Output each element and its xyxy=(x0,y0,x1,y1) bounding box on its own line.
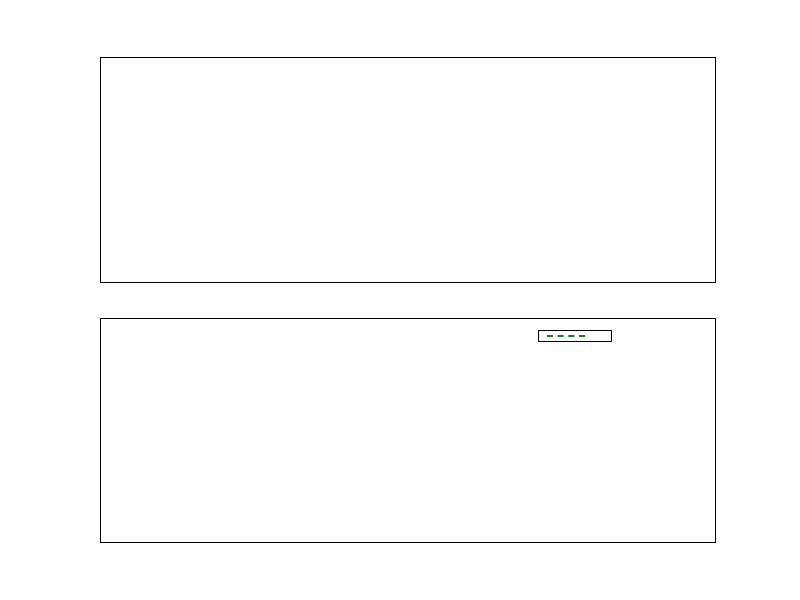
legend[interactable] xyxy=(538,330,612,342)
bottom-panel-axes xyxy=(100,318,716,543)
mag-limit-line-icon xyxy=(547,335,585,337)
histogram-plot-area xyxy=(101,58,715,282)
figure-canvas xyxy=(0,0,800,600)
cumulative-plot-area xyxy=(101,319,715,542)
top-panel-axes xyxy=(100,57,716,283)
